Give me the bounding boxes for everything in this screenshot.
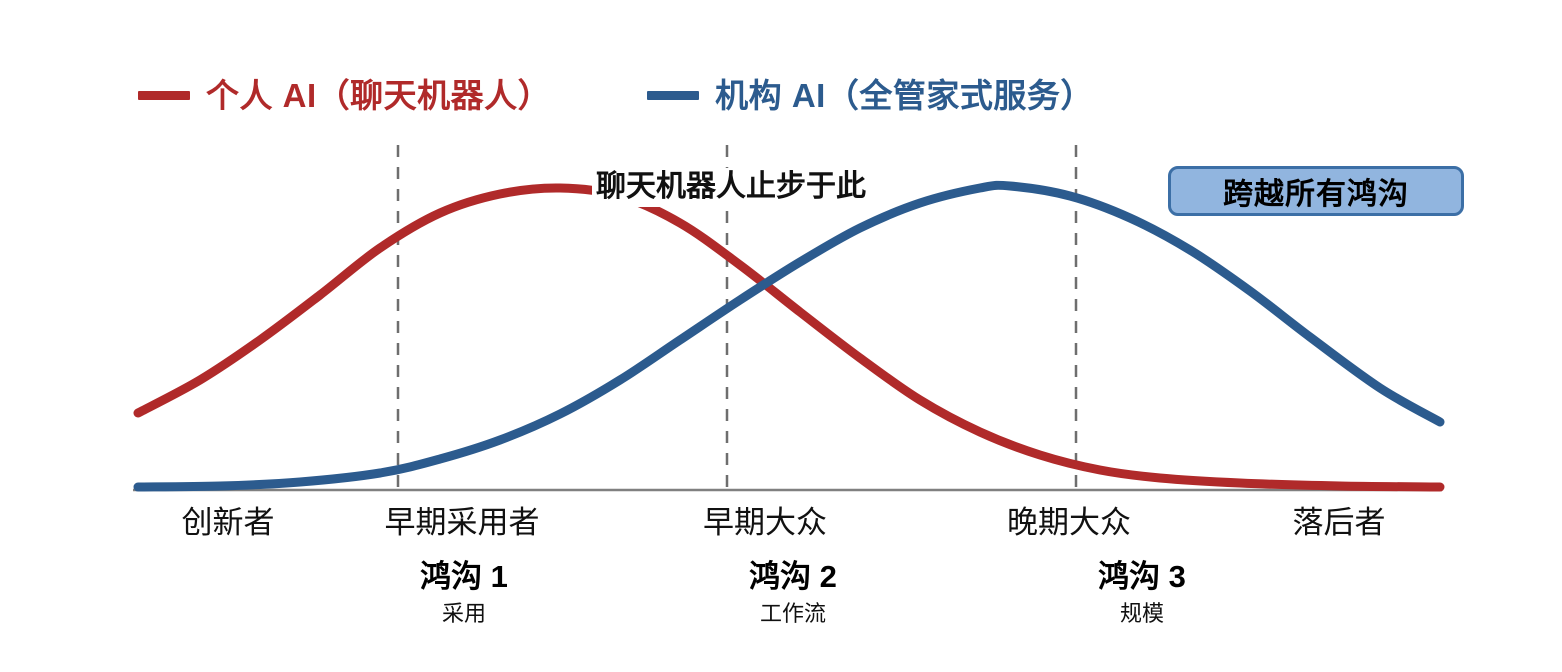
x-axis-category-4: 晚期大众 — [1007, 505, 1131, 542]
category-label: 落后者 — [1293, 505, 1386, 542]
annotation-chatbot-stops: 聊天机器人止步于此 — [592, 168, 870, 207]
category-label: 创新者 — [182, 505, 275, 542]
x-axis-category-2: 早期采用者 — [385, 505, 540, 542]
curve-institutional-ai — [138, 185, 1440, 487]
curve-personal-ai — [138, 188, 1440, 487]
chasm-label: 鸿沟 3 — [1098, 559, 1186, 596]
category-label: 晚期大众 — [1007, 505, 1131, 542]
x-axis-category-5: 落后者 — [1293, 505, 1386, 542]
category-label: 早期采用者 — [385, 505, 540, 542]
chasm-sublabel: 采用 — [420, 601, 508, 627]
chasm-label-group-2: 鸿沟 2工作流 — [749, 553, 837, 627]
chasm-sublabel: 规模 — [1098, 601, 1186, 627]
x-axis-category-3: 早期大众 — [703, 505, 827, 542]
status-badge-crosses-all-chasms: 跨越所有鸿沟 — [1168, 166, 1464, 216]
series-curves — [138, 185, 1440, 487]
chasm-sublabel: 工作流 — [749, 601, 837, 627]
x-axis-category-1: 创新者 — [182, 505, 275, 542]
x-axis-labels: 创新者早期采用者早期大众晚期大众落后者鸿沟 1采用鸿沟 2工作流鸿沟 3规模 — [0, 505, 1562, 655]
chasm-label-group-1: 鸿沟 1采用 — [420, 553, 508, 627]
category-label: 早期大众 — [703, 505, 827, 542]
chart-canvas: 个人 AI（聊天机器人） 机构 AI（全管家式服务） 聊天机器人止步于此 跨越所… — [0, 0, 1562, 672]
chasm-label: 鸿沟 2 — [749, 559, 837, 596]
chasm-label-group-3: 鸿沟 3规模 — [1098, 553, 1186, 627]
chasm-label: 鸿沟 1 — [420, 559, 508, 596]
